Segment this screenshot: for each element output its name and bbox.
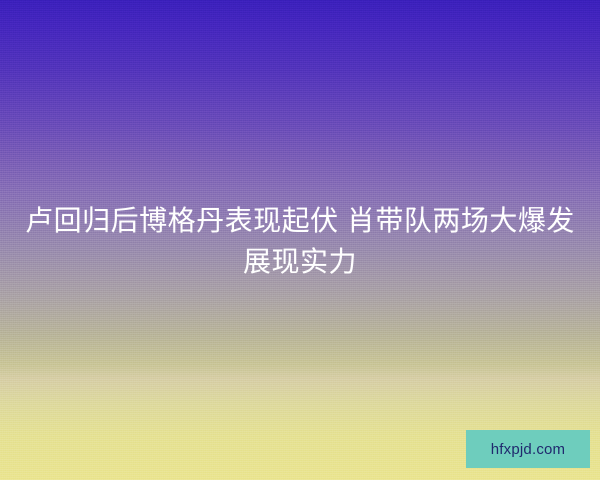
article-banner-image: 卢回归后博格丹表现起伏 肖带队两场大爆发展现实力 hfxpjd.com [0, 0, 600, 480]
watermark-domain-text: hfxpjd.com [491, 442, 566, 457]
watermark-badge[interactable]: hfxpjd.com [466, 430, 590, 468]
banner-headline: 卢回归后博格丹表现起伏 肖带队两场大爆发展现实力 [0, 200, 600, 282]
